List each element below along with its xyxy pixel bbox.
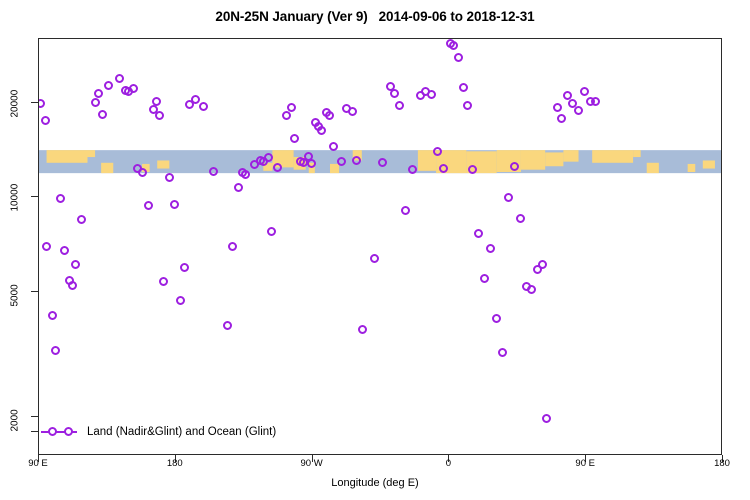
y-tick-label: 2000 (10, 397, 21, 431)
scatter-point (104, 81, 113, 90)
scatter-point (510, 162, 519, 171)
scatter-point (77, 215, 86, 224)
scatter-point (209, 167, 218, 176)
scatter-point (223, 321, 232, 330)
scatter-point (51, 346, 60, 355)
scatter-point (542, 414, 551, 423)
page-title: 20N-25N January (Ver 9) 2014-09-06 to 20… (0, 9, 750, 24)
scatter-point (325, 111, 334, 120)
scatter-point (580, 87, 589, 96)
scatter-point (191, 95, 200, 104)
scatter-point (433, 147, 442, 156)
y-tick-mark (31, 196, 38, 197)
scatter-point (401, 206, 410, 215)
scatter-point (486, 244, 495, 253)
scatter-point (439, 164, 448, 173)
scatter-point (42, 242, 51, 251)
scatter-point (267, 227, 276, 236)
y-tick-label: 10000 (10, 178, 21, 212)
scatter-point (38, 99, 45, 108)
scatter-point (538, 260, 547, 269)
legend-axis-tick (31, 431, 38, 432)
scatter-point (337, 157, 346, 166)
scatter-point (454, 53, 463, 62)
scatter-point (129, 84, 138, 93)
scatter-point (138, 168, 147, 177)
y-tick-mark (31, 291, 38, 292)
figure-canvas: 20N-25N January (Ver 9) 2014-09-06 to 20… (0, 0, 750, 500)
scatter-point (492, 314, 501, 323)
scatter-point (378, 158, 387, 167)
scatter-point (152, 97, 161, 106)
scatter-points-layer (39, 39, 721, 454)
scatter-point (307, 159, 316, 168)
chart-legend[interactable]: Land (Nadir&Glint) and Ocean (Glint) (39, 425, 276, 439)
scatter-point (71, 260, 80, 269)
plot-area (38, 38, 722, 455)
x-axis-label: Longitude (deg E) (0, 477, 750, 489)
x-tick-label: 0 (446, 458, 451, 469)
scatter-point (474, 229, 483, 238)
scatter-point (408, 165, 417, 174)
scatter-point (68, 281, 77, 290)
scatter-point (56, 194, 65, 203)
scatter-point (390, 89, 399, 98)
y-tick-mark (31, 102, 38, 103)
scatter-point (287, 103, 296, 112)
scatter-point (358, 325, 367, 334)
scatter-point (459, 83, 468, 92)
scatter-point (527, 285, 536, 294)
scatter-point (591, 97, 600, 106)
y-tick-label: 20000 (10, 84, 21, 118)
scatter-point (282, 111, 291, 120)
scatter-point (176, 296, 185, 305)
scatter-point (557, 114, 566, 123)
scatter-point (427, 90, 436, 99)
scatter-point (60, 246, 69, 255)
scatter-point (234, 183, 243, 192)
legend-label: Land (Nadir&Glint) and Ocean (Glint) (83, 426, 276, 438)
scatter-point (516, 214, 525, 223)
scatter-point (317, 126, 326, 135)
scatter-point (155, 111, 164, 120)
scatter-point (463, 101, 472, 110)
scatter-point (144, 201, 153, 210)
scatter-point (98, 110, 107, 119)
scatter-point (48, 311, 57, 320)
scatter-point (468, 165, 477, 174)
scatter-point (228, 242, 237, 251)
scatter-point (395, 101, 404, 110)
scatter-point (199, 102, 208, 111)
scatter-point (504, 193, 513, 202)
scatter-point (480, 274, 489, 283)
legend-marker-group (39, 425, 83, 439)
scatter-point (273, 163, 282, 172)
scatter-point (264, 153, 273, 162)
scatter-point (170, 200, 179, 209)
scatter-point (91, 98, 100, 107)
x-tick-label: 180 (167, 458, 183, 469)
scatter-point (159, 277, 168, 286)
x-tick-label: 90 W (301, 458, 323, 469)
scatter-point (290, 134, 299, 143)
scatter-point (329, 142, 338, 151)
scatter-point (165, 173, 174, 182)
scatter-point (449, 41, 458, 50)
y-tick-label: 5000 (10, 272, 21, 306)
legend-marker-circle (64, 427, 73, 436)
scatter-point (553, 103, 562, 112)
scatter-point (241, 170, 250, 179)
scatter-point (94, 89, 103, 98)
scatter-point (348, 107, 357, 116)
scatter-point (352, 156, 361, 165)
scatter-point (115, 74, 124, 83)
scatter-point (180, 263, 189, 272)
scatter-point (498, 348, 507, 357)
scatter-point (574, 106, 583, 115)
legend-marker-circle (48, 427, 57, 436)
x-tick-label: 90 E (28, 458, 48, 469)
scatter-point (41, 116, 50, 125)
y-tick-mark (31, 416, 38, 417)
x-tick-label: 90 E (575, 458, 595, 469)
scatter-point (370, 254, 379, 263)
x-tick-label: 180 (714, 458, 730, 469)
